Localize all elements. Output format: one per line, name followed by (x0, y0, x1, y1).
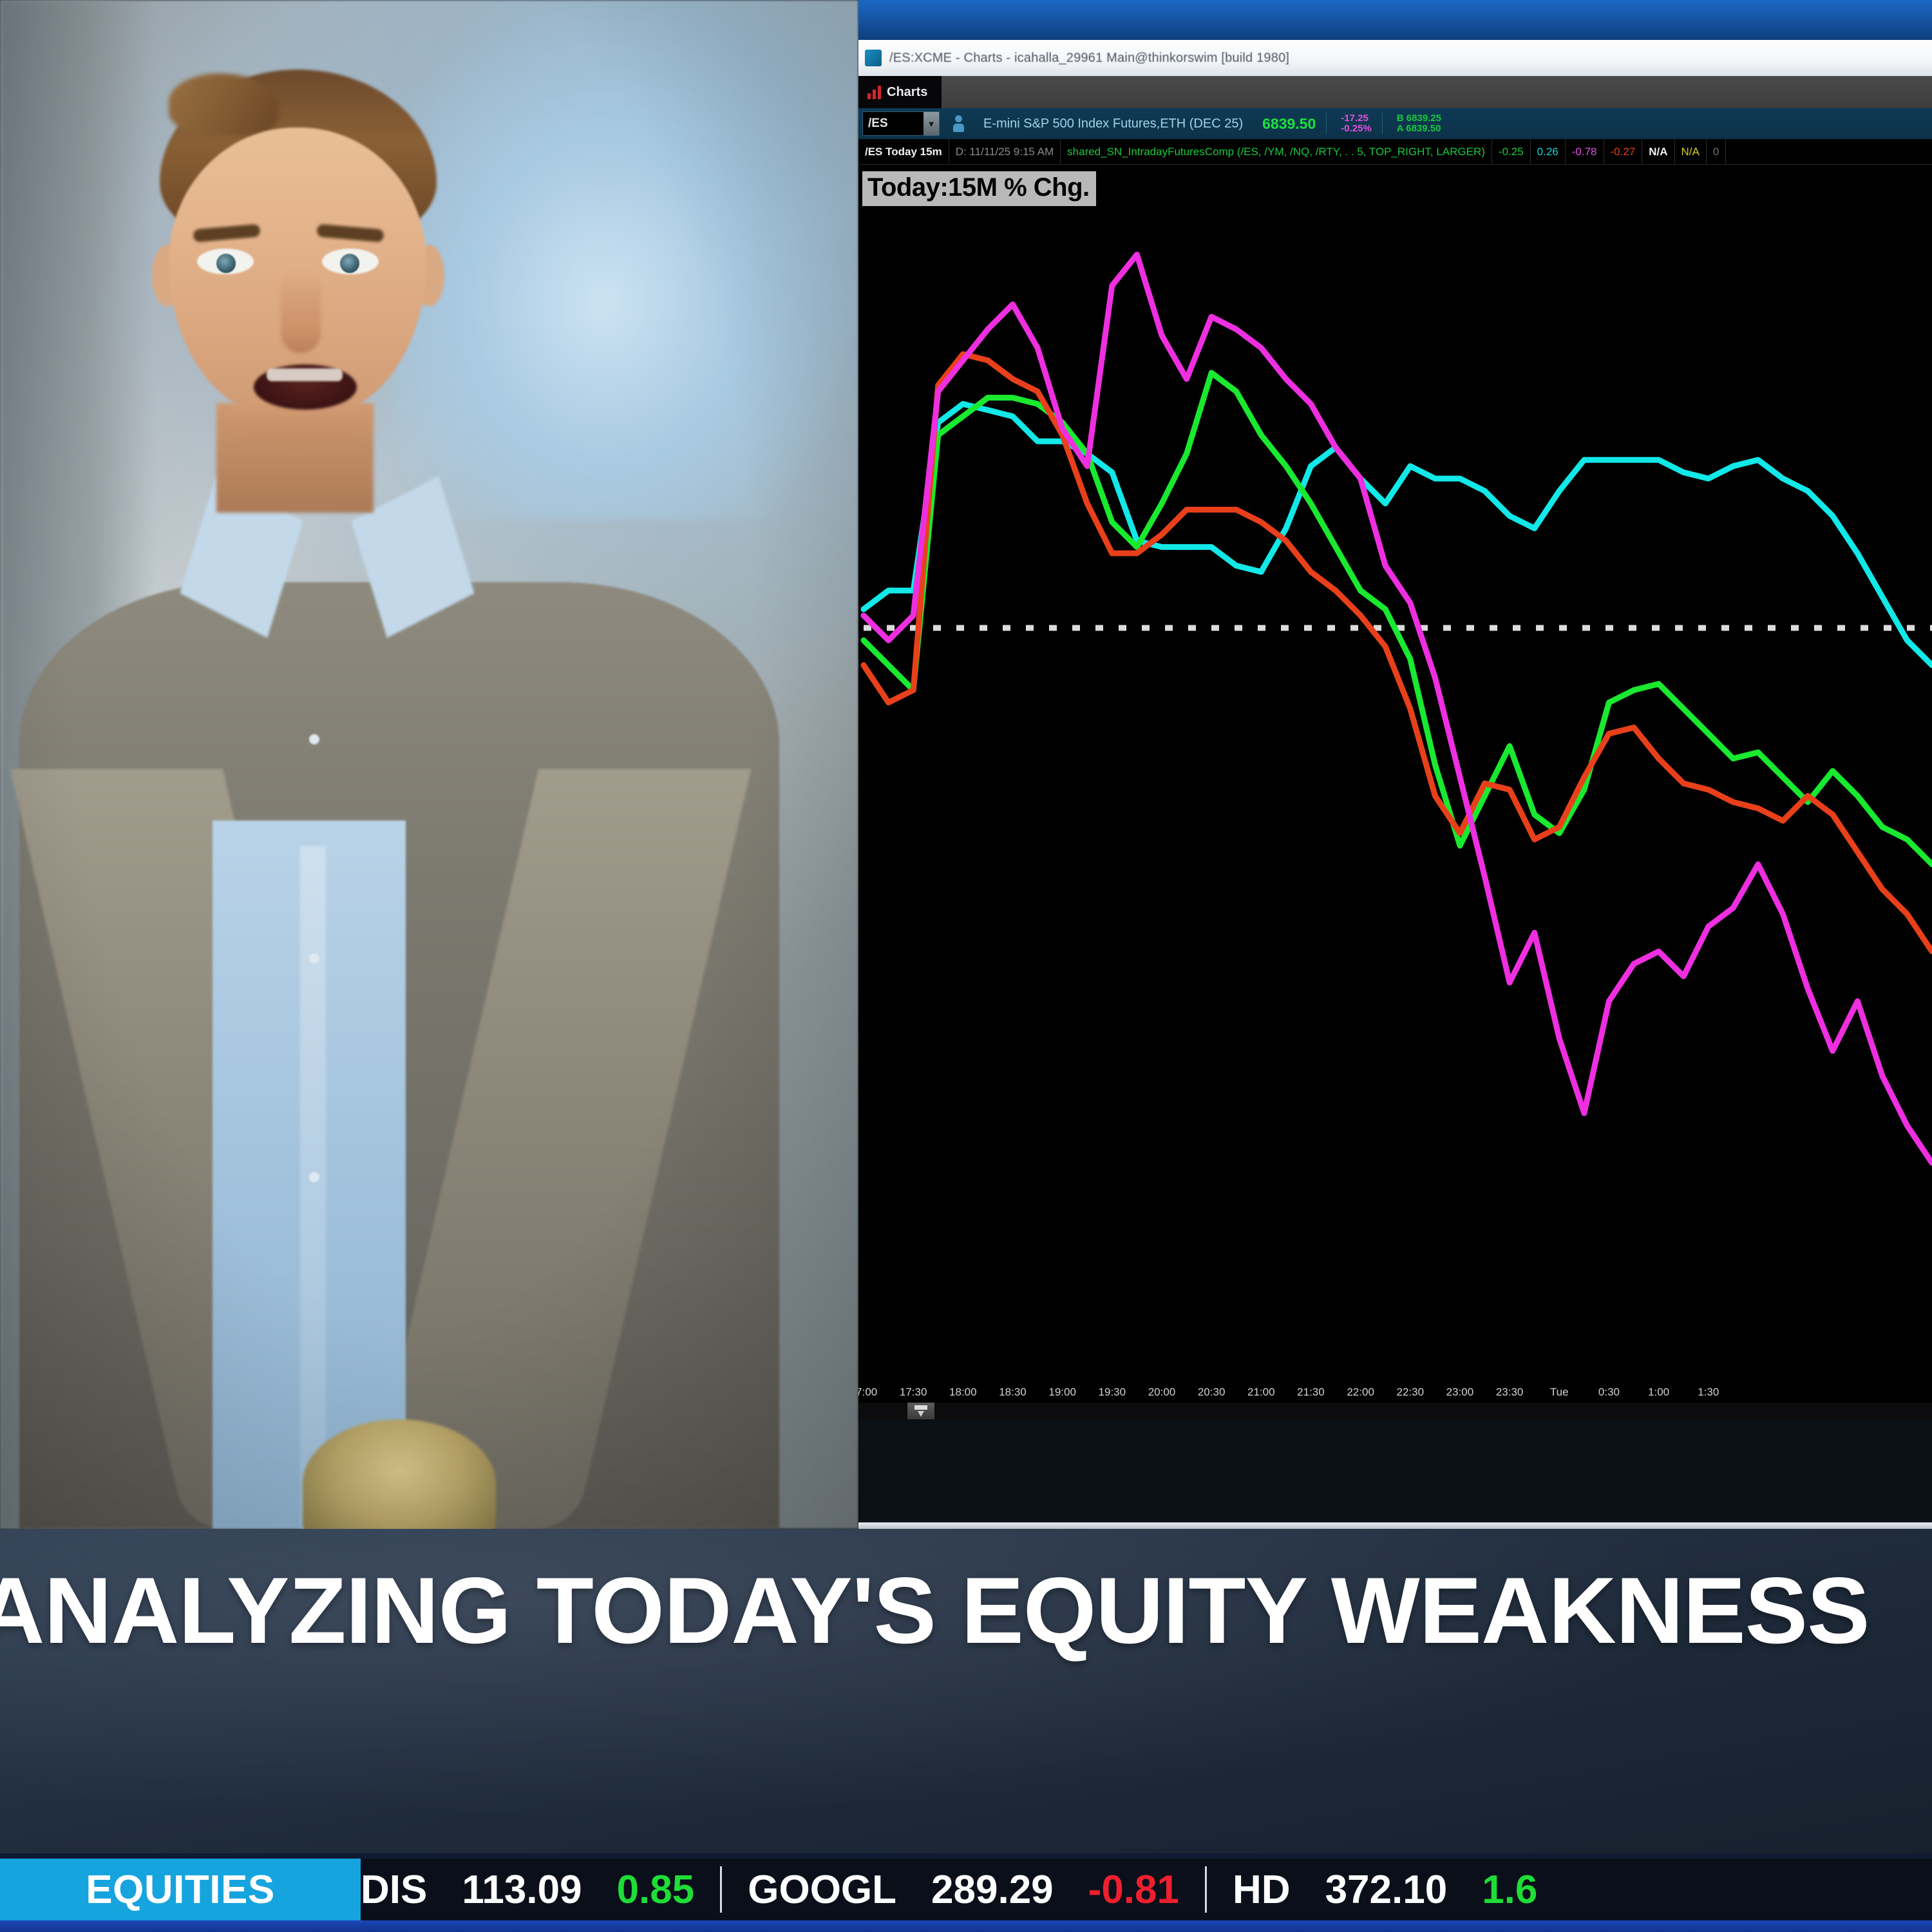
chart-canvas[interactable]: Today:15M % Chg. 17:0017:3018:0018:3019:… (858, 165, 1932, 1421)
ticker-change: -0.81 (1088, 1867, 1179, 1913)
ticker-symbol: GOOGL (748, 1867, 896, 1913)
x-axis-tick: 23:30 (1496, 1386, 1524, 1399)
symbol-bar: /ES ▼ E-mini S&P 500 Index Futures,ETH (… (858, 108, 1932, 139)
net-change-percent: -0.25% (1341, 124, 1372, 134)
study-value-6: 0 (1707, 139, 1726, 164)
x-axis-tick: 17:30 (900, 1386, 927, 1399)
ticker-item[interactable]: HD372.101.6 (1233, 1859, 1537, 1920)
x-axis-tick: Tue (1550, 1386, 1569, 1399)
study-info-bar: /ES Today 15m D: 11/11/25 9:15 AM shared… (858, 139, 1932, 165)
symbol-description: E-mini S&P 500 Index Futures,ETH (DEC 25… (983, 117, 1243, 131)
x-axis-tick: 0:30 (1598, 1386, 1620, 1399)
divider (1382, 113, 1383, 135)
net-change-block: -17.25 -0.25% (1341, 113, 1372, 134)
headline-text: ANALYZING TODAY'S EQUITY WEAKNESS (0, 1564, 1932, 1658)
x-axis-tick: 21:00 (1247, 1386, 1275, 1399)
ticker-change: 1.6 (1482, 1867, 1537, 1913)
symbol-value: /ES (868, 117, 888, 131)
lower-third-banner: ANALYZING TODAY'S EQUITY WEAKNESS (0, 1529, 1932, 1859)
divider (1326, 113, 1327, 135)
ticker-category-label: EQUITIES (0, 1859, 361, 1920)
net-change: -17.25 (1341, 113, 1372, 124)
ask-price: A 6839.50 (1397, 124, 1441, 134)
ticker-symbol: HD (1233, 1867, 1291, 1913)
x-axis-tick: 18:30 (999, 1386, 1027, 1399)
x-axis-tick: 20:30 (1198, 1386, 1226, 1399)
study-value-4: N/A (1642, 139, 1674, 164)
thinkorswim-icon (865, 50, 882, 66)
ticker-gap (0, 1853, 1932, 1859)
x-axis-tick: 19:30 (1099, 1386, 1126, 1399)
tab-charts-label: Charts (887, 85, 927, 100)
x-axis-tick: 17:00 (858, 1386, 877, 1399)
symbol-input[interactable]: /ES ▼ (862, 111, 940, 136)
x-axis-tick: 19:00 (1048, 1386, 1076, 1399)
ticker-divider (720, 1866, 722, 1913)
ticker-items: DIS113.090.85GOOGL289.29-0.81HD372.101.6 (361, 1859, 1932, 1920)
x-axis-tick: 22:30 (1397, 1386, 1425, 1399)
video-feed-panel (0, 0, 858, 1529)
ticker-price: 113.09 (462, 1867, 582, 1913)
trader-profile-icon[interactable] (949, 111, 968, 136)
x-axis-tick: 20:00 (1148, 1386, 1176, 1399)
study-value-1: 0.26 (1531, 139, 1566, 164)
ticker-divider (1205, 1866, 1207, 1913)
x-axis-tick: 1:00 (1648, 1386, 1669, 1399)
chart-drag-handle-icon[interactable] (907, 1403, 934, 1419)
chart-plot (858, 165, 1932, 1421)
x-axis-tick: 18:00 (949, 1386, 977, 1399)
study-name-label[interactable]: shared_SN_IntradayFuturesComp (/ES, /YM,… (1061, 139, 1492, 164)
study-value-2: -0.78 (1566, 139, 1604, 164)
x-axis-tick: 22:00 (1347, 1386, 1374, 1399)
chevron-down-icon[interactable]: ▼ (923, 112, 939, 135)
last-price: 6839.50 (1262, 115, 1316, 133)
chart-date-label: D: 11/11/25 9:15 AM (949, 139, 1061, 164)
ticker-bottom-strip (0, 1920, 1932, 1932)
ticker-price: 372.10 (1325, 1867, 1448, 1913)
tab-charts[interactable]: Charts (858, 76, 942, 108)
tab-strip: Charts (858, 76, 1932, 108)
thinkorswim-window: /ES:XCME - Charts - icahalla_29961 Main@… (858, 0, 1932, 1529)
bar-chart-icon (867, 85, 881, 99)
bid-ask-block: B 6839.25 A 6839.50 (1397, 113, 1441, 134)
study-value-0: -0.25 (1492, 139, 1531, 164)
study-value-3: -0.27 (1604, 139, 1643, 164)
x-axis-tick: 23:00 (1446, 1386, 1474, 1399)
window-titlebar[interactable]: /ES:XCME - Charts - icahalla_29961 Main@… (858, 40, 1932, 76)
video-vignette (0, 0, 858, 1529)
ticker-item[interactable]: DIS113.090.85 (361, 1859, 694, 1920)
x-axis-tick: 1:30 (1698, 1386, 1719, 1399)
ticker-item[interactable]: GOOGL289.29-0.81 (748, 1859, 1179, 1920)
bid-price: B 6839.25 (1397, 113, 1441, 124)
x-axis-tick: 21:30 (1297, 1386, 1325, 1399)
ticker-change: 0.85 (617, 1867, 695, 1913)
chart-bottom-bar (858, 1403, 1932, 1421)
ticker-price: 289.29 (931, 1867, 1054, 1913)
broadcast-screen: /ES:XCME - Charts - icahalla_29961 Main@… (0, 0, 1932, 1932)
chart-x-axis: 17:0017:3018:0018:3019:0019:3020:0020:30… (858, 1386, 1932, 1403)
ticker-bar: EQUITIES DIS113.090.85GOOGL289.29-0.81HD… (0, 1859, 1932, 1920)
chart-timeframe-label[interactable]: /ES Today 15m (858, 139, 949, 164)
desktop-background-strip (858, 0, 1932, 40)
ticker-symbol: DIS (361, 1867, 427, 1913)
study-value-5: N/A (1675, 139, 1707, 164)
window-footer (858, 1522, 1932, 1529)
window-title: /ES:XCME - Charts - icahalla_29961 Main@… (889, 51, 1289, 66)
